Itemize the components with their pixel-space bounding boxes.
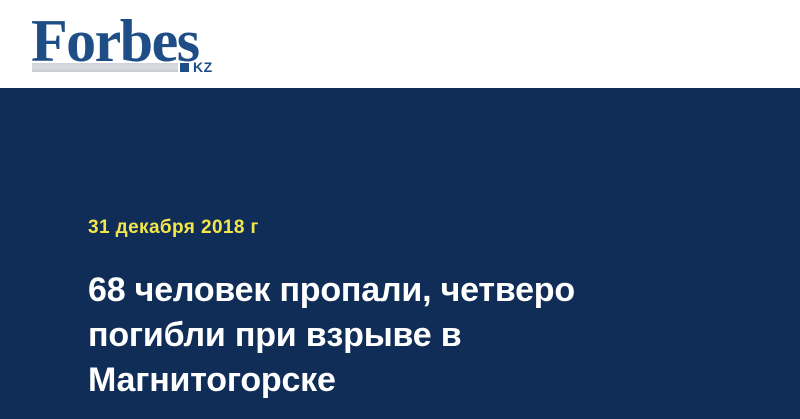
article-headline[interactable]: 68 человек пропали, четверо погибли при …: [88, 268, 658, 403]
article-card: Forbes KZ 31 декабря 2018 г 68 человек п…: [0, 0, 800, 419]
forbes-kz-logo[interactable]: Forbes KZ: [31, 11, 251, 79]
hero-panel: 31 декабря 2018 г 68 человек пропали, че…: [0, 88, 800, 419]
logo-suffix-kz: KZ: [193, 60, 213, 74]
logo-square-icon: [180, 63, 189, 72]
logo-wordmark: Forbes: [31, 11, 199, 71]
publication-date: 31 декабря 2018 г: [88, 216, 259, 240]
site-header: Forbes KZ: [0, 0, 800, 88]
logo-gray-bar-icon: [32, 63, 178, 72]
